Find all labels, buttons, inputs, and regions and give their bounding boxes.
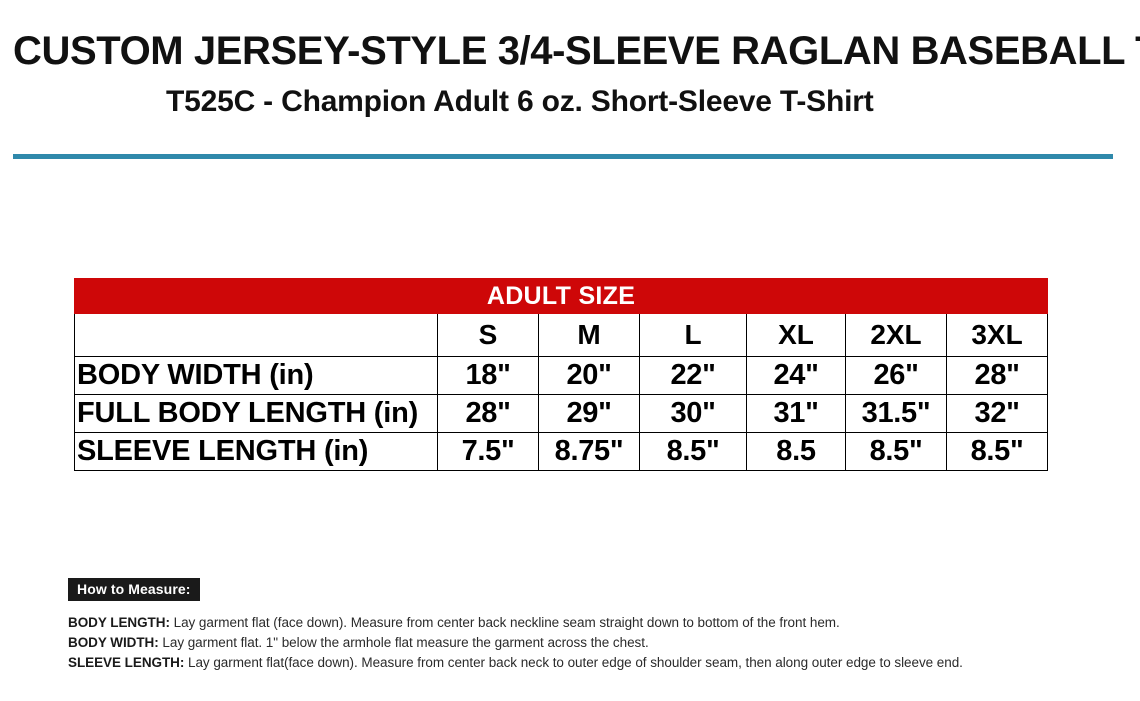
cell-full-body-length-s: 28": [438, 395, 539, 433]
measure-line-sleeve-length: SLEEVE LENGTH: Lay garment flat(face dow…: [68, 653, 1078, 673]
measure-text-sleeve-length: Lay garment flat(face down). Measure fro…: [184, 655, 963, 670]
cell-full-body-length-m: 29": [539, 395, 640, 433]
column-header-l: L: [640, 314, 747, 357]
size-chart-header-row: S M L XL 2XL 3XL: [75, 314, 1048, 357]
column-header-m: M: [539, 314, 640, 357]
column-header-3xl: 3XL: [947, 314, 1048, 357]
table-row: SLEEVE LENGTH (in) 7.5" 8.75" 8.5" 8.5 8…: [75, 433, 1048, 471]
row-label-full-body-length: FULL BODY LENGTH (in): [75, 395, 438, 433]
measure-line-body-length: BODY LENGTH: Lay garment flat (face down…: [68, 613, 1078, 633]
cell-body-width-2xl: 26": [846, 357, 947, 395]
cell-sleeve-length-l: 8.5": [640, 433, 747, 471]
row-label-sleeve-length: SLEEVE LENGTH (in): [75, 433, 438, 471]
page-subtitle: T525C - Champion Adult 6 oz. Short-Sleev…: [166, 87, 874, 117]
measure-key-sleeve-length: SLEEVE LENGTH:: [68, 655, 184, 670]
size-chart-table: ADULT SIZE S M L XL 2XL 3XL BODY WIDTH (…: [74, 278, 1048, 471]
cell-body-width-xl: 24": [747, 357, 846, 395]
measure-key-body-length: BODY LENGTH:: [68, 615, 170, 630]
cell-sleeve-length-3xl: 8.5": [947, 433, 1048, 471]
cell-sleeve-length-xl: 8.5: [747, 433, 846, 471]
cell-sleeve-length-2xl: 8.5": [846, 433, 947, 471]
measure-text-body-width: Lay garment flat. 1" below the armhole f…: [159, 635, 649, 650]
cell-body-width-l: 22": [640, 357, 747, 395]
measure-line-body-width: BODY WIDTH: Lay garment flat. 1" below t…: [68, 633, 1078, 653]
cell-full-body-length-xl: 31": [747, 395, 846, 433]
cell-sleeve-length-m: 8.75": [539, 433, 640, 471]
table-row: BODY WIDTH (in) 18" 20" 22" 24" 26" 28": [75, 357, 1048, 395]
page-title: CUSTOM JERSEY-STYLE 3/4-SLEEVE RAGLAN BA…: [13, 31, 1140, 71]
size-chart-corner-cell: [75, 314, 438, 357]
cell-body-width-s: 18": [438, 357, 539, 395]
how-to-measure-section: How to Measure: BODY LENGTH: Lay garment…: [68, 578, 1078, 673]
cell-sleeve-length-s: 7.5": [438, 433, 539, 471]
measure-text-body-length: Lay garment flat (face down). Measure fr…: [170, 615, 840, 630]
measure-key-body-width: BODY WIDTH:: [68, 635, 159, 650]
row-label-body-width: BODY WIDTH (in): [75, 357, 438, 395]
adult-size-banner: ADULT SIZE: [75, 279, 1048, 314]
cell-full-body-length-l: 30": [640, 395, 747, 433]
cell-full-body-length-2xl: 31.5": [846, 395, 947, 433]
how-to-measure-lines: BODY LENGTH: Lay garment flat (face down…: [68, 613, 1078, 673]
size-chart-banner-row: ADULT SIZE: [75, 279, 1048, 314]
column-header-2xl: 2XL: [846, 314, 947, 357]
header-divider-rule: [13, 154, 1113, 159]
column-header-s: S: [438, 314, 539, 357]
table-row: FULL BODY LENGTH (in) 28" 29" 30" 31" 31…: [75, 395, 1048, 433]
column-header-xl: XL: [747, 314, 846, 357]
cell-full-body-length-3xl: 32": [947, 395, 1048, 433]
cell-body-width-3xl: 28": [947, 357, 1048, 395]
cell-body-width-m: 20": [539, 357, 640, 395]
how-to-measure-badge: How to Measure:: [68, 578, 200, 601]
